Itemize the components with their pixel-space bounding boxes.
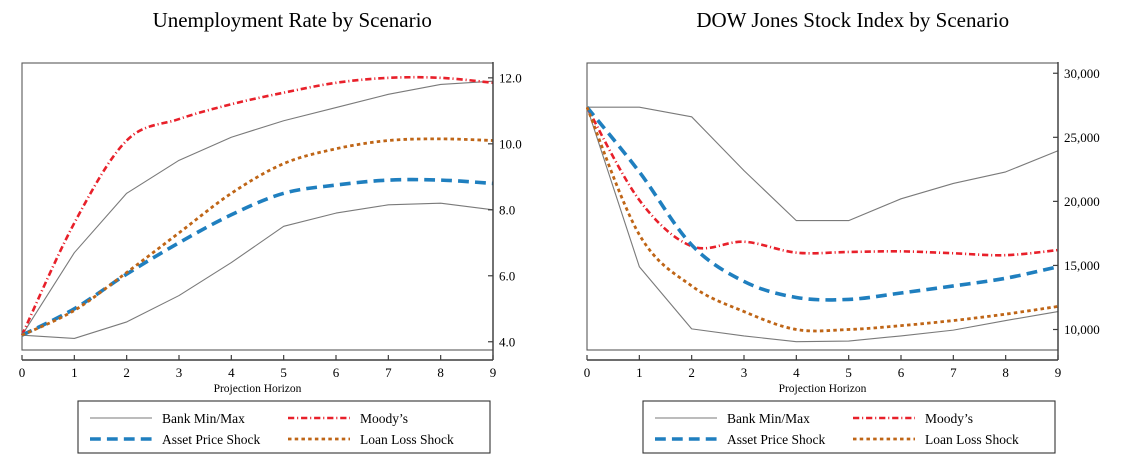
series-line-moodys — [587, 107, 1058, 255]
x-tick-label: 3 — [176, 365, 183, 380]
series-line-loan_loss_shock — [22, 139, 493, 335]
series-line-bank_min_max — [587, 107, 1058, 341]
x-tick-label: 1 — [71, 365, 78, 380]
x-tick-label: 9 — [1054, 365, 1061, 380]
series-line-loan_loss_shock — [587, 107, 1058, 331]
series-line-bank_min_max — [22, 203, 493, 338]
x-tick-label: 5 — [280, 365, 287, 380]
y-tick-label: 4.0 — [499, 334, 515, 349]
x-tick-label: 7 — [385, 365, 392, 380]
y-tick-label: 10,000 — [1064, 322, 1100, 337]
x-tick-label: 4 — [793, 365, 800, 380]
x-tick-label: 8 — [437, 365, 444, 380]
x-axis-title: Projection Horizon — [778, 383, 866, 395]
legend-label-moodys[interactable]: Moody’s — [360, 411, 408, 426]
x-tick-label: 6 — [333, 365, 340, 380]
y-tick-label: 15,000 — [1064, 258, 1100, 273]
dow-chart: 10,00015,00020,00025,00030,0000123456789… — [565, 0, 1129, 461]
series-group — [22, 77, 493, 338]
x-tick-label: 6 — [897, 365, 904, 380]
y-tick-label: 30,000 — [1064, 66, 1100, 81]
figure-root: Unemployment Rate by Scenario 4.06.08.01… — [0, 0, 1129, 461]
panel-dow: DOW Jones Stock Index by Scenario 10,000… — [565, 0, 1129, 461]
x-tick-label: 4 — [228, 365, 235, 380]
series-line-bank_min_max — [587, 107, 1058, 220]
x-tick-label: 2 — [688, 365, 695, 380]
x-tick-label: 9 — [490, 365, 497, 380]
legend-label-bank_min_max[interactable]: Bank Min/Max — [727, 411, 810, 426]
series-line-asset_price_shock — [22, 180, 493, 336]
legend-label-bank_min_max[interactable]: Bank Min/Max — [162, 411, 245, 426]
x-tick-label: 2 — [123, 365, 130, 380]
y-tick-label: 12.0 — [499, 70, 522, 85]
y-tick-label: 25,000 — [1064, 130, 1100, 145]
series-group — [587, 107, 1058, 341]
x-tick-label: 5 — [845, 365, 852, 380]
legend-label-loan_loss_shock[interactable]: Loan Loss Shock — [925, 432, 1019, 447]
x-tick-label: 3 — [740, 365, 747, 380]
unemployment-chart: 4.06.08.010.012.00123456789Projection Ho… — [0, 0, 565, 461]
y-tick-label: 6.0 — [499, 268, 515, 283]
y-tick-label: 10.0 — [499, 136, 522, 151]
panel-unemployment: Unemployment Rate by Scenario 4.06.08.01… — [0, 0, 565, 461]
legend-label-asset_price_shock[interactable]: Asset Price Shock — [162, 432, 260, 447]
legend: Bank Min/MaxMoody’sAsset Price ShockLoan… — [78, 401, 490, 453]
legend-label-moodys[interactable]: Moody’s — [925, 411, 973, 426]
y-tick-label: 20,000 — [1064, 194, 1100, 209]
x-tick-label: 0 — [19, 365, 26, 380]
x-tick-label: 7 — [950, 365, 957, 380]
x-tick-label: 1 — [636, 365, 643, 380]
x-tick-label: 8 — [1002, 365, 1009, 380]
legend-label-loan_loss_shock[interactable]: Loan Loss Shock — [360, 432, 454, 447]
y-tick-label: 8.0 — [499, 202, 515, 217]
series-line-asset_price_shock — [587, 107, 1058, 300]
x-axis-title: Projection Horizon — [214, 383, 302, 395]
legend-label-asset_price_shock[interactable]: Asset Price Shock — [727, 432, 825, 447]
x-tick-label: 0 — [583, 365, 590, 380]
legend: Bank Min/MaxMoody’sAsset Price ShockLoan… — [643, 401, 1055, 453]
